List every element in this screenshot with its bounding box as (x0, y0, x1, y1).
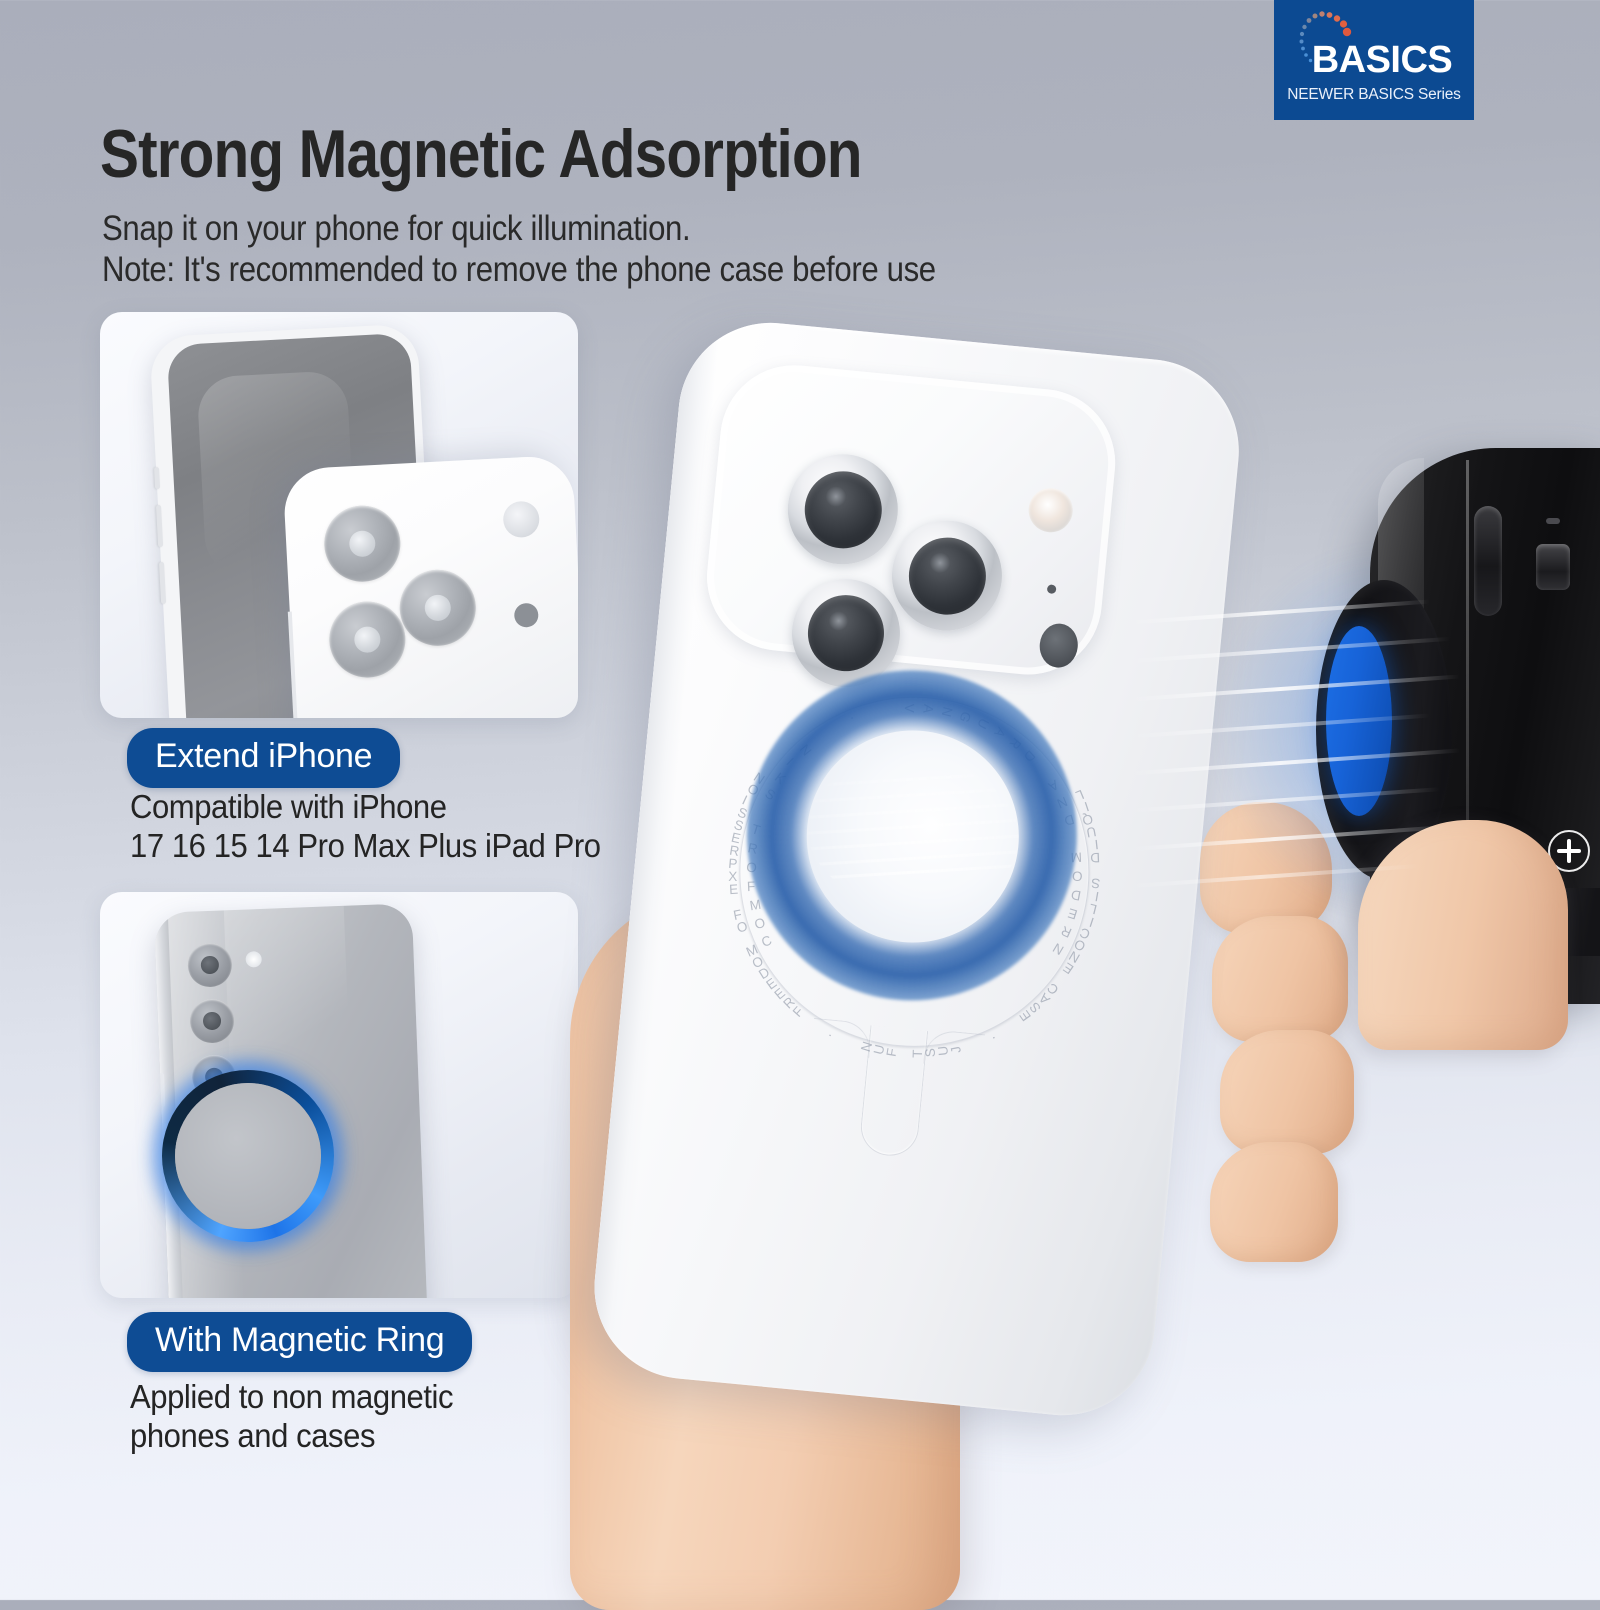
caption-line-2: 17 16 15 14 Pro Max Plus iPad Pro (130, 827, 601, 866)
lidar-sensor (514, 603, 539, 628)
brand-series: NEEWER BASICS Series (1287, 86, 1460, 104)
device-vent-slot (1474, 506, 1502, 616)
volume-down-button (159, 562, 166, 604)
caption-line-1: Compatible with iPhone (130, 788, 601, 827)
subtitle-line-2: Note: It's recommended to remove the pho… (102, 250, 936, 290)
caption-line-1: Applied to non magnetic (130, 1378, 453, 1417)
page-title: Strong Magnetic Adsorption (100, 115, 862, 193)
camera-flash (1027, 486, 1075, 534)
caption-line-2: phones and cases (130, 1417, 453, 1456)
iphone-in-white-silicone-case: COMFORT SKIN · VANGUARD AND MODERN LIQUI… (586, 315, 1247, 1424)
camera-lens (783, 449, 903, 569)
mute-switch (154, 467, 160, 489)
finger (1210, 1142, 1338, 1262)
camera-plateau (700, 359, 1122, 682)
lidar-sensor (1038, 622, 1080, 669)
camera-lens (327, 600, 407, 680)
dotted-arc-icon (1294, 8, 1356, 70)
case-edge (586, 315, 721, 1373)
feature-thumbnail-extend-iphone (100, 312, 578, 718)
feature-caption-extend-iphone: Compatible with iPhone 17 16 15 14 Pro M… (130, 788, 601, 865)
microphone-hole (1047, 584, 1057, 594)
camera-lens (398, 568, 478, 648)
brand-badge: BASICS NEEWER BASICS Series (1274, 0, 1474, 120)
camera-lens (887, 516, 1007, 636)
device-magnet-ring-blue (1326, 626, 1392, 816)
magnetic-led-light-device (1310, 430, 1600, 1050)
indicator-pin (1546, 518, 1560, 524)
feature-thumbnail-magnetic-ring (100, 892, 578, 1298)
camera-flash (502, 500, 540, 538)
usb-c-port (1536, 544, 1570, 590)
camera-lens (322, 504, 402, 584)
magsafe-emboss-stem (858, 1025, 928, 1158)
thumb (1358, 820, 1568, 1050)
subtitle-line-1: Snap it on your phone for quick illumina… (102, 209, 690, 249)
feature-pill-magnetic-ring: With Magnetic Ring (127, 1312, 472, 1372)
phone-front-white-illustration (282, 455, 578, 718)
hero-product-photo: COMFORT SKIN · VANGUARD AND MODERN LIQUI… (560, 330, 1380, 1600)
volume-up-button (156, 505, 163, 547)
feature-caption-magnetic-ring: Applied to non magnetic phones and cases (130, 1378, 453, 1455)
feature-pill-extend-iphone: Extend iPhone (127, 728, 400, 788)
magnetic-ring-inner-surface (175, 1083, 321, 1229)
